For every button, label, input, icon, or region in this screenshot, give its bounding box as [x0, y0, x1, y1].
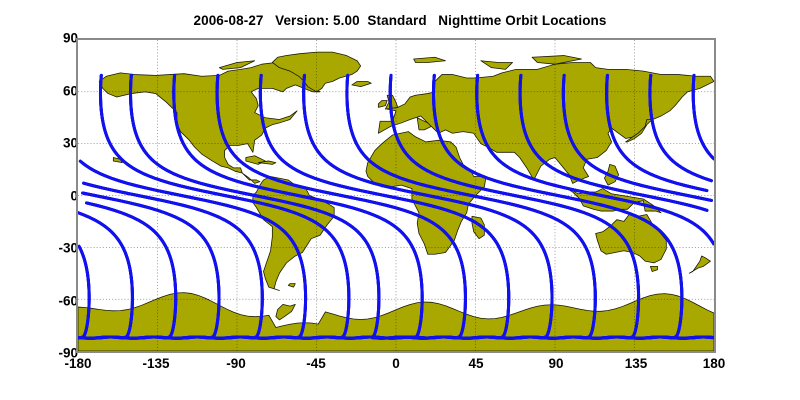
landmass-svalbard [414, 57, 446, 62]
landmass-new-zealand [689, 256, 710, 273]
y-tick-label: -30 [18, 241, 78, 256]
landmass-antarctic-peninsula [276, 304, 295, 320]
x-tick-label: 0 [356, 356, 436, 371]
world-map-svg [78, 40, 714, 351]
x-tick-label: 180 [674, 356, 754, 371]
landmass-iceland [352, 81, 371, 86]
y-tick-label: 0 [18, 188, 78, 203]
map-plot-area [76, 38, 716, 353]
x-tick-label: 135 [596, 356, 676, 371]
orbit-locations-figure: 2006-08-27 Version: 5.00 Standard Nightt… [0, 0, 800, 400]
x-tick-label: -135 [116, 356, 196, 371]
landmass-tasmania [650, 266, 657, 271]
landmass-novaya-zemlya [481, 61, 513, 70]
chart-title: 2006-08-27 Version: 5.00 Standard Nightt… [0, 13, 800, 28]
landmass-falklands [288, 284, 295, 287]
x-tick-label: -45 [276, 356, 356, 371]
x-tick-label: -90 [196, 356, 276, 371]
landmass-ireland [378, 100, 387, 107]
x-tick-label: 45 [436, 356, 516, 371]
x-tick-label: 90 [516, 356, 596, 371]
y-tick-label: 90 [18, 31, 78, 46]
y-tick-label: 30 [18, 136, 78, 151]
y-tick-label: -60 [18, 293, 78, 308]
x-tick-label: -180 [38, 356, 118, 371]
y-tick-label: 60 [18, 83, 78, 98]
landmass-africa [366, 132, 486, 255]
